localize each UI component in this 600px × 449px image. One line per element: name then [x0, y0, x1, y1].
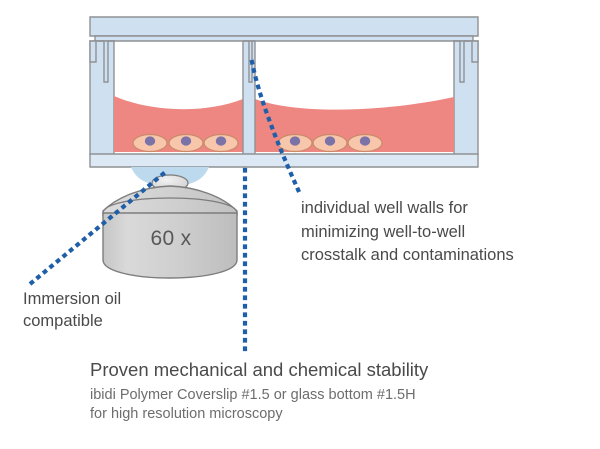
callout-stability-sub-line-2: for high resolution microscopy — [90, 405, 428, 424]
center-well-divider-wall — [243, 41, 255, 155]
cell-group-right — [278, 135, 382, 152]
cell — [278, 135, 312, 152]
cell — [313, 135, 347, 152]
well-plate-body — [90, 17, 478, 167]
figure-root: 60 x individual well walls for minimizin… — [0, 0, 600, 449]
cell-group-left — [133, 135, 238, 152]
callout-well-walls: individual well walls for minimizing wel… — [301, 197, 514, 268]
callout-well-walls-line-2: minimizing well-to-well — [301, 221, 514, 245]
cell — [133, 135, 167, 152]
callout-stability: Proven mechanical and chemical stability… — [90, 358, 428, 424]
cell — [348, 135, 382, 152]
callout-well-walls-line-1: individual well walls for — [301, 197, 514, 221]
right-wall-shoulder — [472, 41, 478, 62]
callout-stability-headline: Proven mechanical and chemical stability — [90, 358, 428, 382]
callout-stability-subtext: ibidi Polymer Coverslip #1.5 or glass bo… — [90, 386, 428, 424]
callout-stability-sub-line-1: ibidi Polymer Coverslip #1.5 or glass bo… — [90, 386, 428, 405]
objective-taper — [103, 186, 237, 215]
cell — [204, 135, 238, 152]
callout-immersion-oil: Immersion oil compatible — [23, 289, 121, 332]
cell — [169, 135, 203, 152]
callout-well-walls-line-3: crosstalk and contaminations — [301, 244, 514, 268]
lid-inner-rim — [95, 36, 473, 41]
callout-immersion-oil-line-1: Immersion oil — [23, 289, 121, 311]
left-wall-shoulder — [90, 41, 96, 62]
callout-immersion-oil-line-2: compatible — [23, 311, 121, 333]
plate-lid — [90, 17, 478, 41]
lid-top-bar — [90, 17, 478, 36]
objective-magnification-label: 60 x — [131, 227, 211, 251]
